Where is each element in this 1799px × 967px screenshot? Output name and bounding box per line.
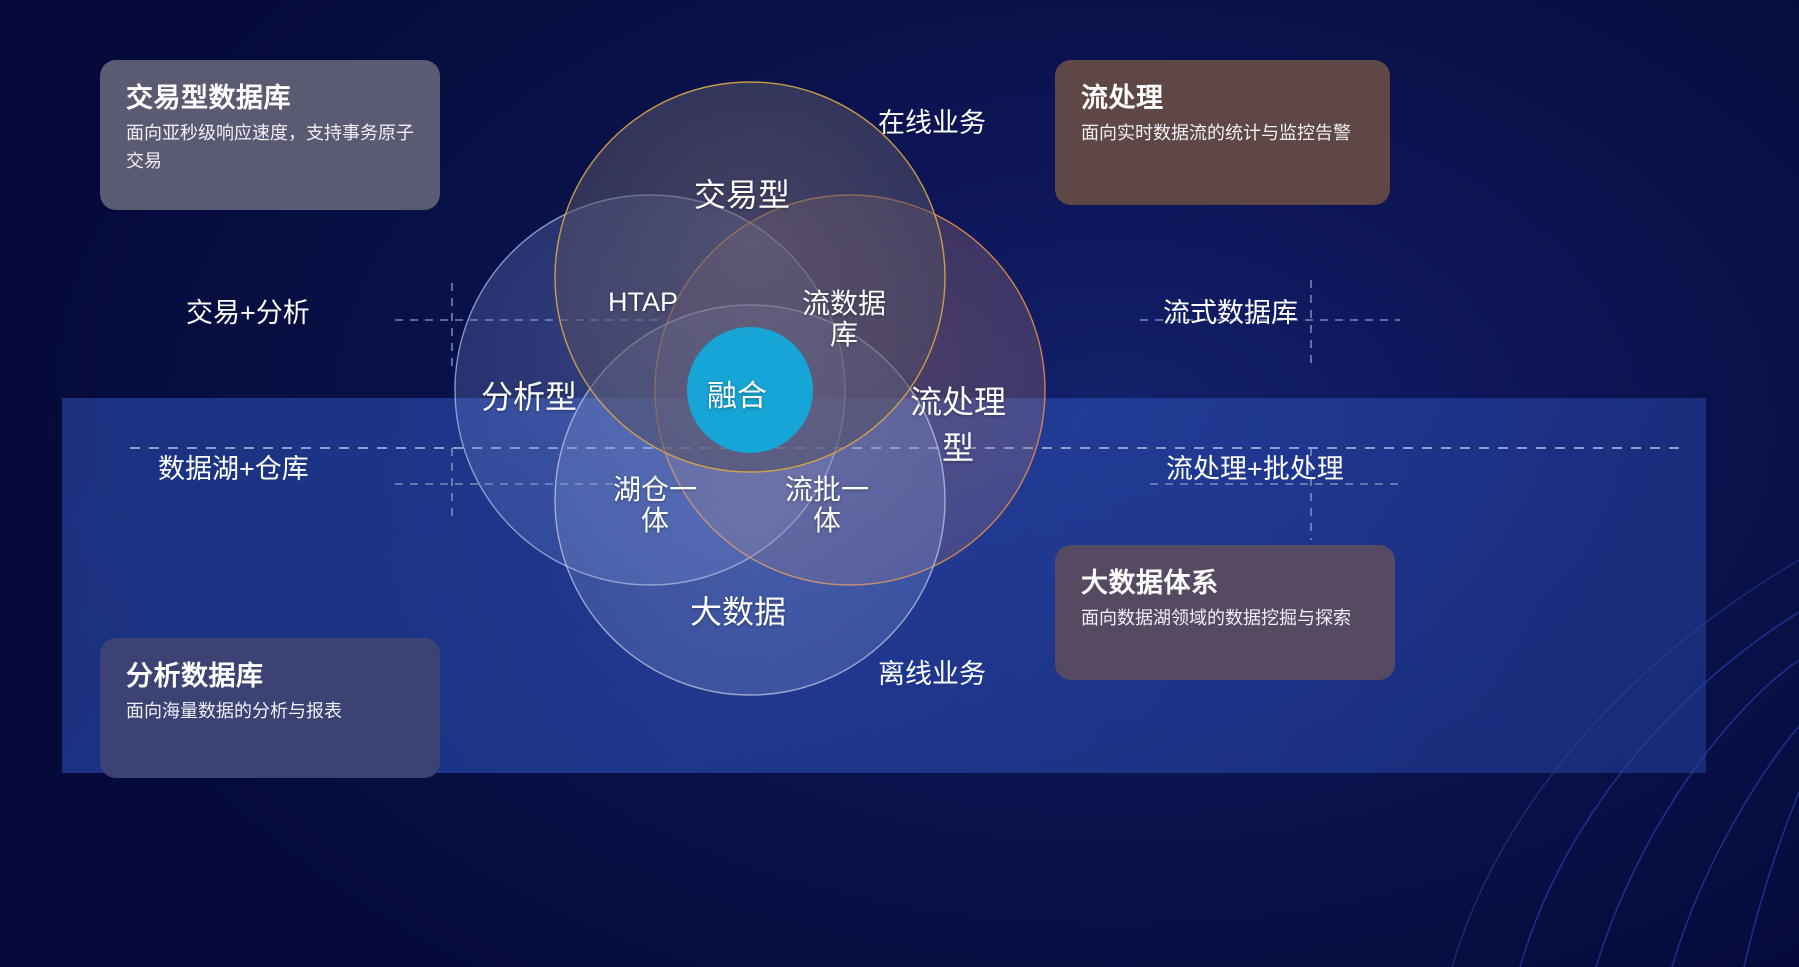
card-title: 大数据体系 [1081, 567, 1369, 599]
venn-label-analytical: 分析型 [481, 372, 577, 418]
label-datalake-plus-warehouse: 数据湖+仓库 [158, 453, 309, 485]
card-title: 流处理 [1081, 82, 1364, 114]
card-analytical-db[interactable]: 分析数据库 面向海量数据的分析与报表 [100, 638, 440, 778]
venn-center-fusion: 融合 [707, 371, 767, 415]
card-description: 面向海量数据的分析与报表 [126, 698, 414, 726]
label-stream-plus-batch: 流处理+批处理 [1166, 453, 1344, 485]
label-offline-business: 离线业务 [878, 658, 986, 690]
card-bigdata-system[interactable]: 大数据体系 面向数据湖领域的数据挖掘与探索 [1055, 545, 1395, 680]
card-transactional-db[interactable]: 交易型数据库 面向亚秒级响应速度，支持事务原子交易 [100, 60, 440, 210]
card-stream-processing[interactable]: 流处理 面向实时数据流的统计与监控告警 [1055, 60, 1390, 205]
label-streaming-database: 流式数据库 [1163, 297, 1298, 329]
label-online-business: 在线业务 [878, 107, 986, 139]
slide-canvas: 交易型 分析型 流处理型 大数据 HTAP 流数据库 湖仓一体 流批一体 融合 … [0, 0, 1799, 967]
venn-intersection-stream-db: 流数据库 [790, 288, 898, 351]
venn-label-bigdata: 大数据 [690, 587, 786, 633]
venn-label-transactional: 交易型 [694, 170, 790, 216]
venn-label-stream: 流处理型 [900, 377, 1016, 469]
card-description: 面向实时数据流的统计与监控告警 [1081, 120, 1364, 148]
card-title: 交易型数据库 [126, 82, 414, 114]
card-title: 分析数据库 [126, 660, 414, 692]
card-description: 面向数据湖领域的数据挖掘与探索 [1081, 605, 1369, 633]
label-transaction-plus-analysis: 交易+分析 [186, 297, 310, 329]
venn-intersection-stream-batch: 流批一体 [779, 474, 875, 537]
card-description: 面向亚秒级响应速度，支持事务原子交易 [126, 120, 414, 176]
venn-intersection-lake-warehouse: 湖仓一体 [604, 474, 706, 537]
venn-intersection-htap: HTAP [608, 287, 678, 317]
